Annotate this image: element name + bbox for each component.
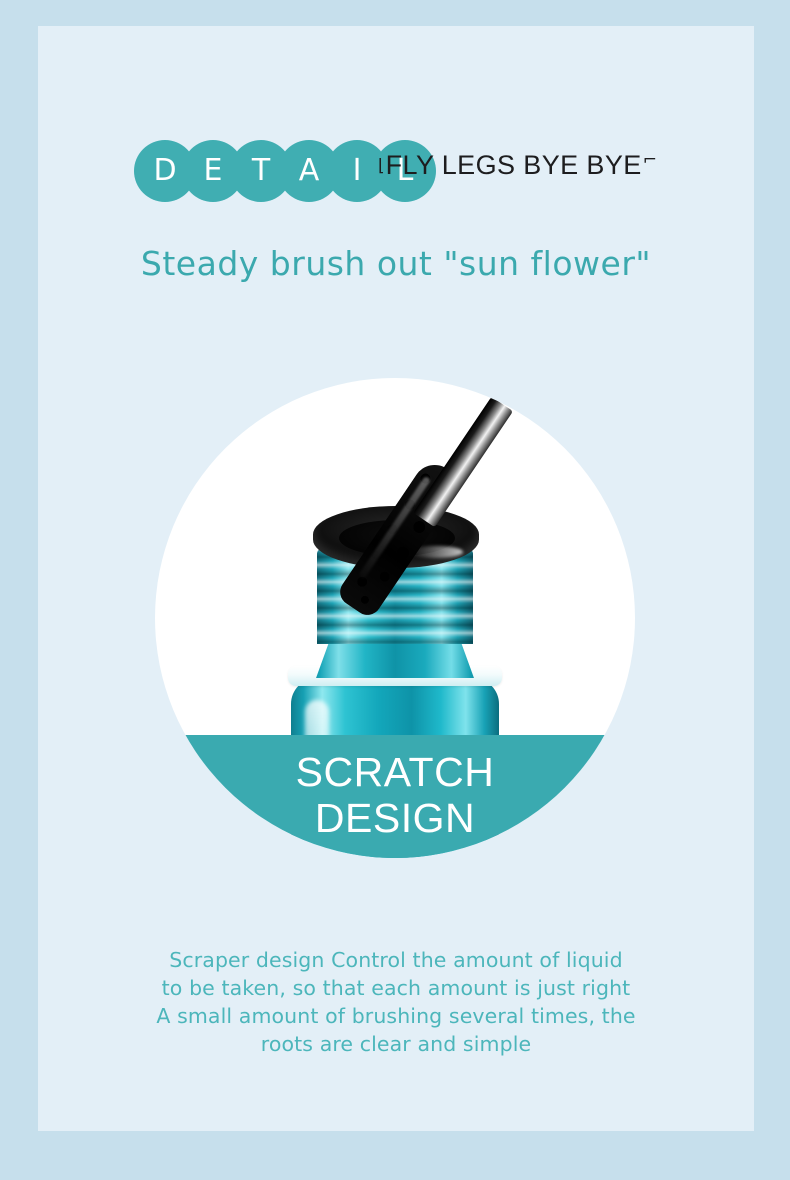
bracket-left-icon: ⌊ (378, 158, 385, 175)
description-line-3: A small amount of brushing several times… (38, 1002, 754, 1030)
tagline-text: FLY LEGS BYE BYE (386, 152, 642, 179)
detail-badge-row: D E T A I L ⌊ FLY LEGS BYE BYE ⌐ (38, 134, 754, 220)
description-line-2: to be taken, so that each amount is just… (38, 974, 754, 1002)
banner-line-2: DESIGN (155, 795, 635, 841)
tagline: ⌊ FLY LEGS BYE BYE ⌐ (378, 152, 657, 179)
bracket-right-icon: ⌐ (643, 152, 657, 169)
product-detail-poster: D E T A I L ⌊ FLY LEGS BYE BYE ⌐ Steady … (0, 0, 790, 1180)
banner-line-1: SCRATCH (155, 749, 635, 795)
scratch-design-banner: SCRATCH DESIGN (155, 735, 635, 858)
description-paragraph: Scraper design Control the amount of liq… (38, 946, 754, 1058)
description-line-4: roots are clear and simple (38, 1030, 754, 1058)
page-title: Steady brush out "sun flower" (38, 244, 754, 283)
poster-inner-panel: D E T A I L ⌊ FLY LEGS BYE BYE ⌐ Steady … (38, 26, 754, 1131)
description-line-1: Scraper design Control the amount of liq… (38, 946, 754, 974)
mascara-wand-handle (413, 397, 513, 528)
product-photo-circle: SCRATCH DESIGN (155, 378, 635, 858)
scratch-design-banner-text: SCRATCH DESIGN (155, 749, 635, 841)
